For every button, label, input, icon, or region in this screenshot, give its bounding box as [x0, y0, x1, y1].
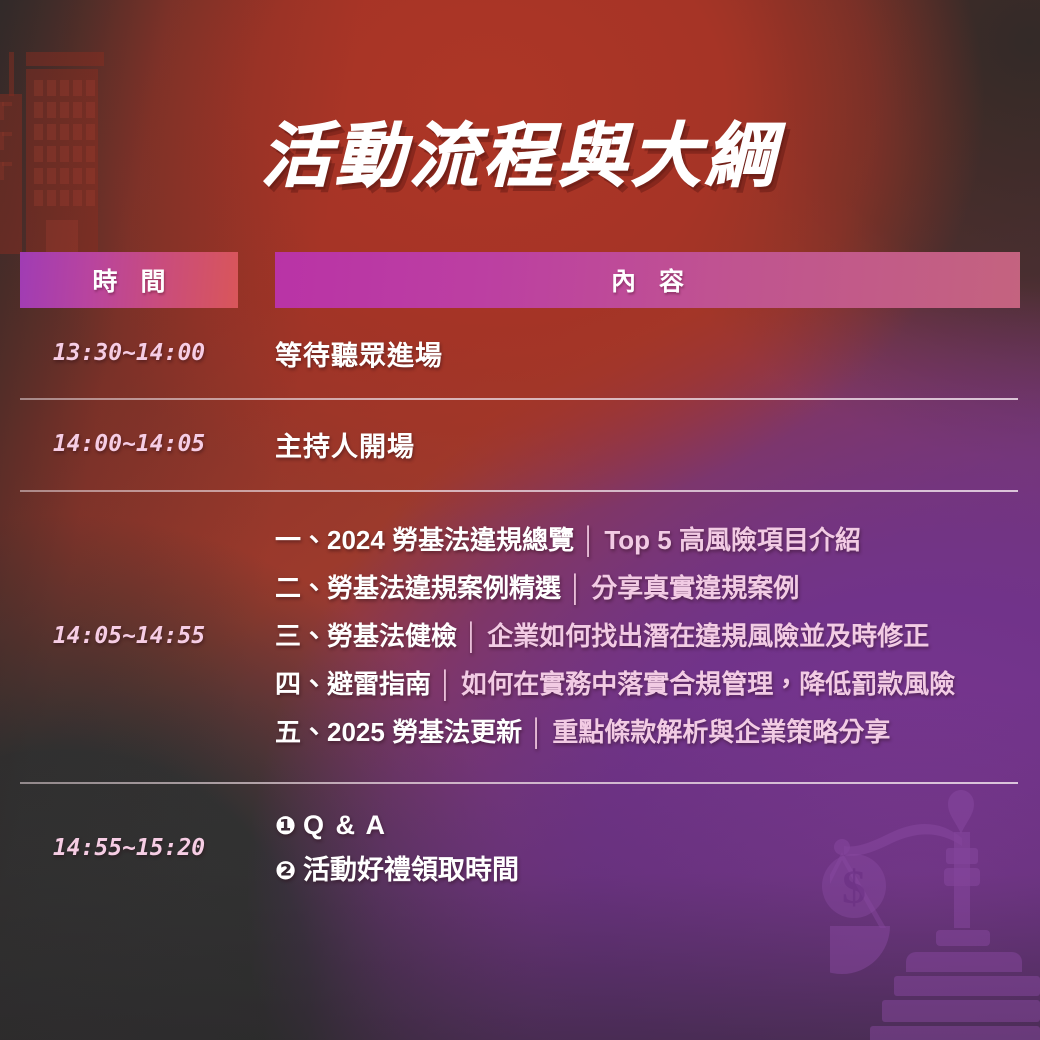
- agenda-item-title: 三、勞基法健檢: [275, 621, 457, 651]
- qa-item-text: 活動好禮領取時間: [303, 855, 519, 885]
- qa-item: ❶Q & A: [275, 803, 1020, 848]
- agenda-item: 二、勞基法違規案例精選│分享真實違規案例: [275, 564, 1020, 612]
- agenda-item-subtitle: 企業如何找出潛在違規風險並及時修正: [487, 621, 929, 651]
- row-time: 14:55~15:20: [20, 835, 238, 861]
- row-content: ❶Q & A ❷活動好禮領取時間: [275, 803, 1020, 893]
- row-content: 主持人開場: [275, 425, 1020, 464]
- agenda-item-subtitle: 重點條款解析與企業策略分享: [552, 717, 890, 747]
- agenda-separator: │: [431, 669, 461, 699]
- agenda-item: 一、2024 勞基法違規總覽│Top 5 高風險項目介紹: [275, 516, 1020, 564]
- agenda-item-title: 四、避雷指南: [275, 669, 431, 699]
- agenda-separator: │: [457, 621, 487, 651]
- table-row: 13:30~14:00 等待聽眾進場: [0, 308, 1040, 398]
- poster-canvas: $ 活動流程與大綱 時 間 內 容 13:30~14:00 等待聽眾進場 14:…: [0, 0, 1040, 1040]
- page-title-wrapper: 活動流程與大綱: [0, 72, 1040, 241]
- agenda-item-title: 五、2025 勞基法更新: [275, 717, 522, 747]
- agenda-item: 五、2025 勞基法更新│重點條款解析與企業策略分享: [275, 708, 1020, 756]
- qa-item-text: Q & A: [303, 810, 387, 840]
- schedule-table: 時 間 內 容 13:30~14:00 等待聽眾進場 14:00~14:05 主…: [0, 252, 1040, 914]
- row-time: 14:05~14:55: [20, 623, 238, 649]
- agenda-separator: │: [522, 717, 552, 747]
- agenda-item: 三、勞基法健檢│企業如何找出潛在違規風險並及時修正: [275, 612, 1020, 660]
- agenda-item: 四、避雷指南│如何在實務中落實合規管理，降低罰款風險: [275, 660, 1020, 708]
- agenda-separator: │: [574, 525, 604, 555]
- circled-number-1-icon: ❶: [275, 804, 303, 848]
- row-content: 一、2024 勞基法違規總覽│Top 5 高風險項目介紹 二、勞基法違規案例精選…: [275, 516, 1020, 756]
- agenda-list: 一、2024 勞基法違規總覽│Top 5 高風險項目介紹 二、勞基法違規案例精選…: [275, 516, 1020, 756]
- column-header-content: 內 容: [275, 252, 1020, 308]
- circled-number-2-icon: ❷: [275, 849, 303, 893]
- column-header-time: 時 間: [20, 252, 238, 308]
- qa-item: ❷活動好禮領取時間: [275, 848, 1020, 893]
- row-time: 14:00~14:05: [20, 431, 238, 457]
- row-time: 13:30~14:00: [20, 340, 238, 366]
- agenda-item-subtitle: Top 5 高風險項目介紹: [604, 525, 861, 555]
- row-content: 等待聽眾進場: [275, 334, 1020, 373]
- qa-list: ❶Q & A ❷活動好禮領取時間: [275, 803, 1020, 893]
- agenda-item-subtitle: 如何在實務中落實合規管理，降低罰款風險: [461, 669, 955, 699]
- table-row: 14:00~14:05 主持人開場: [0, 398, 1040, 490]
- row-content-text: 主持人開場: [275, 432, 415, 462]
- agenda-item-subtitle: 分享真實違規案例: [591, 573, 799, 603]
- agenda-separator: │: [561, 573, 591, 603]
- table-header-row: 時 間 內 容: [0, 252, 1040, 308]
- agenda-item-title: 一、2024 勞基法違規總覽: [275, 525, 574, 555]
- table-row: 14:55~15:20 ❶Q & A ❷活動好禮領取時間: [0, 782, 1040, 914]
- row-content-text: 等待聽眾進場: [275, 341, 443, 371]
- table-row: 14:05~14:55 一、2024 勞基法違規總覽│Top 5 高風險項目介紹…: [0, 490, 1040, 782]
- page-title: 活動流程與大綱: [261, 119, 779, 195]
- agenda-item-title: 二、勞基法違規案例精選: [275, 573, 561, 603]
